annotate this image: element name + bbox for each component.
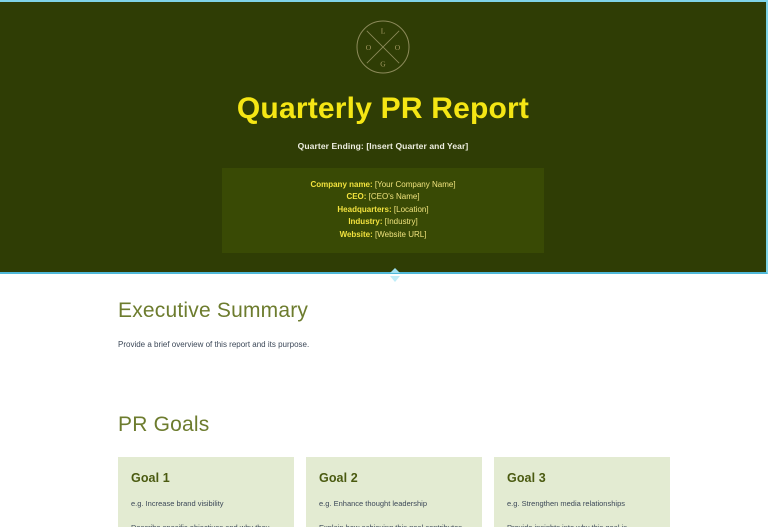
info-value: [Industry] [385, 217, 418, 226]
report-page: L O O G Quarterly PR Report Quarter Endi… [0, 0, 768, 527]
goal-card-description: Explain how achieving this goal contribu… [319, 523, 469, 527]
info-label: Website: [340, 230, 373, 239]
goal-card-example: e.g. Increase brand visibility [131, 499, 281, 510]
goal-card-1: Goal 1 e.g. Increase brand visibility De… [118, 457, 294, 527]
info-row-industry: Industry: [Industry] [232, 216, 534, 228]
info-row-ceo: CEO: [CEO's Name] [232, 191, 534, 203]
info-value: [Your Company Name] [375, 180, 456, 189]
logo-placeholder-icon: L O O G [354, 18, 412, 76]
info-label: Headquarters: [337, 205, 391, 214]
goal-card-title: Goal 1 [131, 471, 281, 485]
goal-card-example: e.g. Strengthen media relationships [507, 499, 657, 510]
report-body: Executive Summary Provide a brief overvi… [0, 274, 768, 527]
report-title: Quarterly PR Report [237, 92, 529, 125]
info-row-company-name: Company name: [Your Company Name] [232, 179, 534, 191]
info-label: CEO: [346, 192, 366, 201]
goal-card-example: e.g. Enhance thought leadership [319, 499, 469, 510]
executive-summary-text: Provide a brief overview of this report … [118, 339, 720, 351]
executive-summary-heading: Executive Summary [118, 274, 720, 323]
report-subtitle: Quarter Ending: [Insert Quarter and Year… [298, 141, 469, 151]
goal-card-title: Goal 3 [507, 471, 657, 485]
executive-summary-section: Executive Summary Provide a brief overvi… [0, 274, 768, 351]
pr-goals-section: PR Goals Goal 1 e.g. Increase brand visi… [0, 351, 768, 527]
hero-banner: L O O G Quarterly PR Report Quarter Endi… [0, 0, 768, 274]
goal-card-3: Goal 3 e.g. Strengthen media relationshi… [494, 457, 670, 527]
info-label: Company name: [310, 180, 372, 189]
goal-card-2: Goal 2 e.g. Enhance thought leadership E… [306, 457, 482, 527]
svg-text:O: O [366, 43, 372, 52]
info-label: Industry: [348, 217, 382, 226]
goal-card-title: Goal 2 [319, 471, 469, 485]
goal-card-description: Provide insights into why this goal is r… [507, 523, 657, 527]
svg-text:G: G [380, 60, 386, 69]
info-value: [CEO's Name] [369, 192, 420, 201]
info-value: [Website URL] [375, 230, 426, 239]
svg-text:L: L [381, 27, 386, 36]
info-row-website: Website: [Website URL] [232, 229, 534, 241]
pr-goals-card-row: Goal 1 e.g. Increase brand visibility De… [118, 457, 720, 527]
info-value: [Location] [394, 205, 429, 214]
info-row-headquarters: Headquarters: [Location] [232, 204, 534, 216]
svg-text:O: O [395, 43, 401, 52]
section-resize-handle[interactable] [389, 268, 401, 282]
goal-card-description: Describe specific objectives and why the… [131, 523, 281, 527]
company-info-box: Company name: [Your Company Name] CEO: [… [222, 168, 544, 253]
pr-goals-heading: PR Goals [118, 351, 720, 437]
